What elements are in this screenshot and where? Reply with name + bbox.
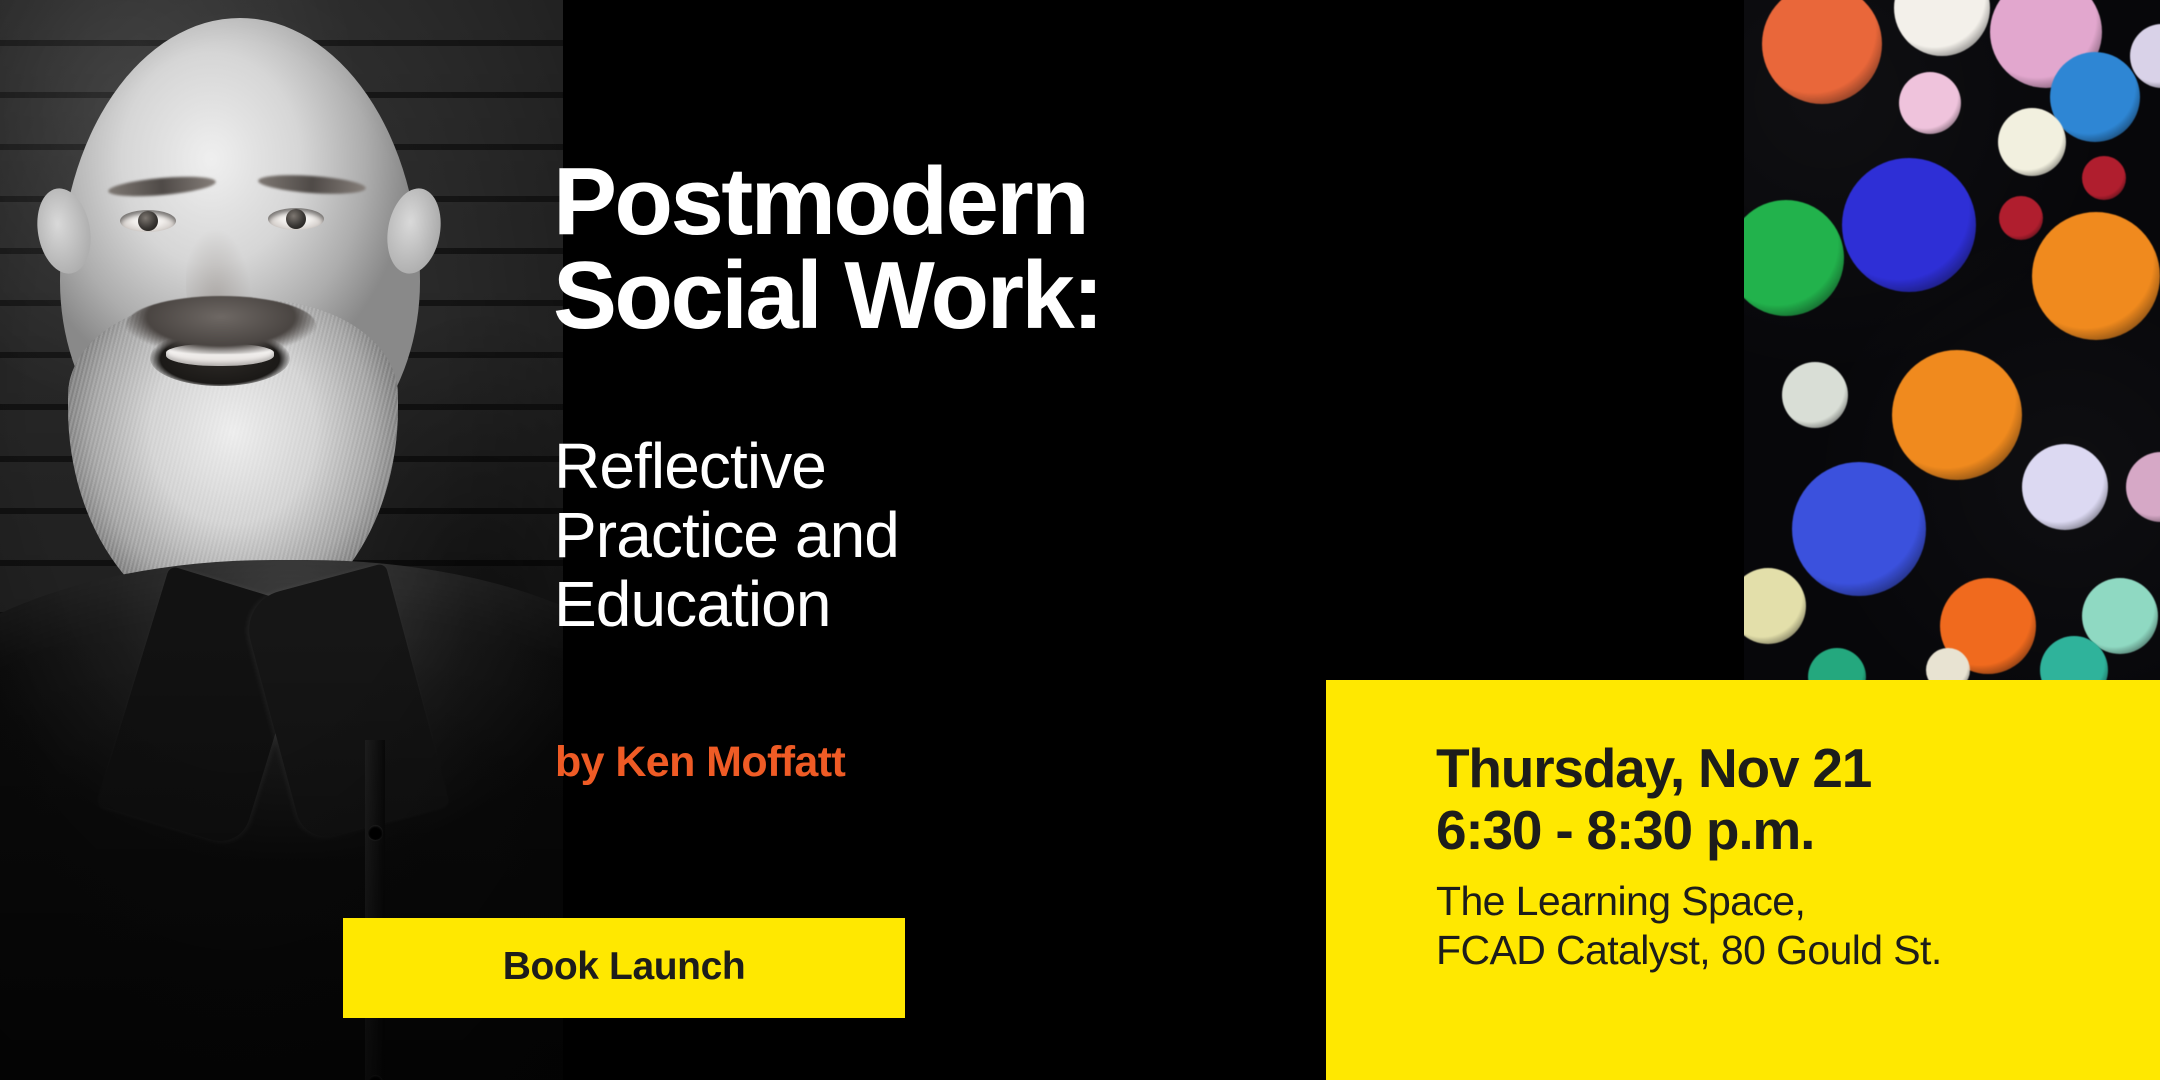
portrait-pupil-right (286, 209, 306, 229)
event-poster: Postmodern Social Work: Reflective Pract… (0, 0, 2160, 1080)
poster-subtitle-line-3: Education (554, 570, 1314, 639)
poster-subtitle-line-2: Practice and (554, 501, 1314, 570)
portrait-pupil-left (138, 211, 158, 231)
artwork-circle (1926, 648, 1970, 684)
book-launch-badge-label: Book Launch (503, 945, 746, 989)
portrait-shirt-button (368, 825, 383, 840)
author-byline: by Ken Moffatt (555, 738, 845, 787)
event-details-panel: Thursday, Nov 21 6:30 - 8:30 p.m. The Le… (1326, 680, 2160, 1080)
artwork-circle (2032, 212, 2160, 340)
artwork-circle (1792, 462, 1926, 596)
abstract-circles-artwork (1744, 0, 2160, 684)
event-date: Thursday, Nov 21 (1436, 738, 1871, 800)
poster-title-line-1: Postmodern (553, 155, 1313, 249)
poster-subtitle: Reflective Practice and Education (554, 432, 1314, 639)
event-time: 6:30 - 8:30 p.m. (1436, 800, 1871, 862)
poster-title-line-2: Social Work: (553, 249, 1313, 343)
event-venue-line-2: FCAD Catalyst, 80 Gould St. (1436, 926, 1942, 975)
artwork-circle (1998, 108, 2066, 176)
artwork-circle (1999, 196, 2043, 240)
artwork-circle (1892, 350, 2022, 480)
portrait-moustache (126, 296, 316, 354)
event-venue: The Learning Space, FCAD Catalyst, 80 Go… (1436, 877, 1942, 975)
artwork-circle (1842, 158, 1976, 292)
poster-subtitle-line-1: Reflective (554, 432, 1314, 501)
poster-title: Postmodern Social Work: (553, 155, 1313, 343)
artwork-circle (1899, 72, 1961, 134)
book-launch-badge: Book Launch (343, 918, 905, 1018)
event-venue-line-1: The Learning Space, (1436, 877, 1942, 926)
artwork-circle (1782, 362, 1848, 428)
event-datetime: Thursday, Nov 21 6:30 - 8:30 p.m. (1436, 738, 1871, 861)
portrait-shirt-placket (365, 740, 385, 1080)
artwork-circle (2022, 444, 2108, 530)
artwork-circle (2082, 156, 2126, 200)
